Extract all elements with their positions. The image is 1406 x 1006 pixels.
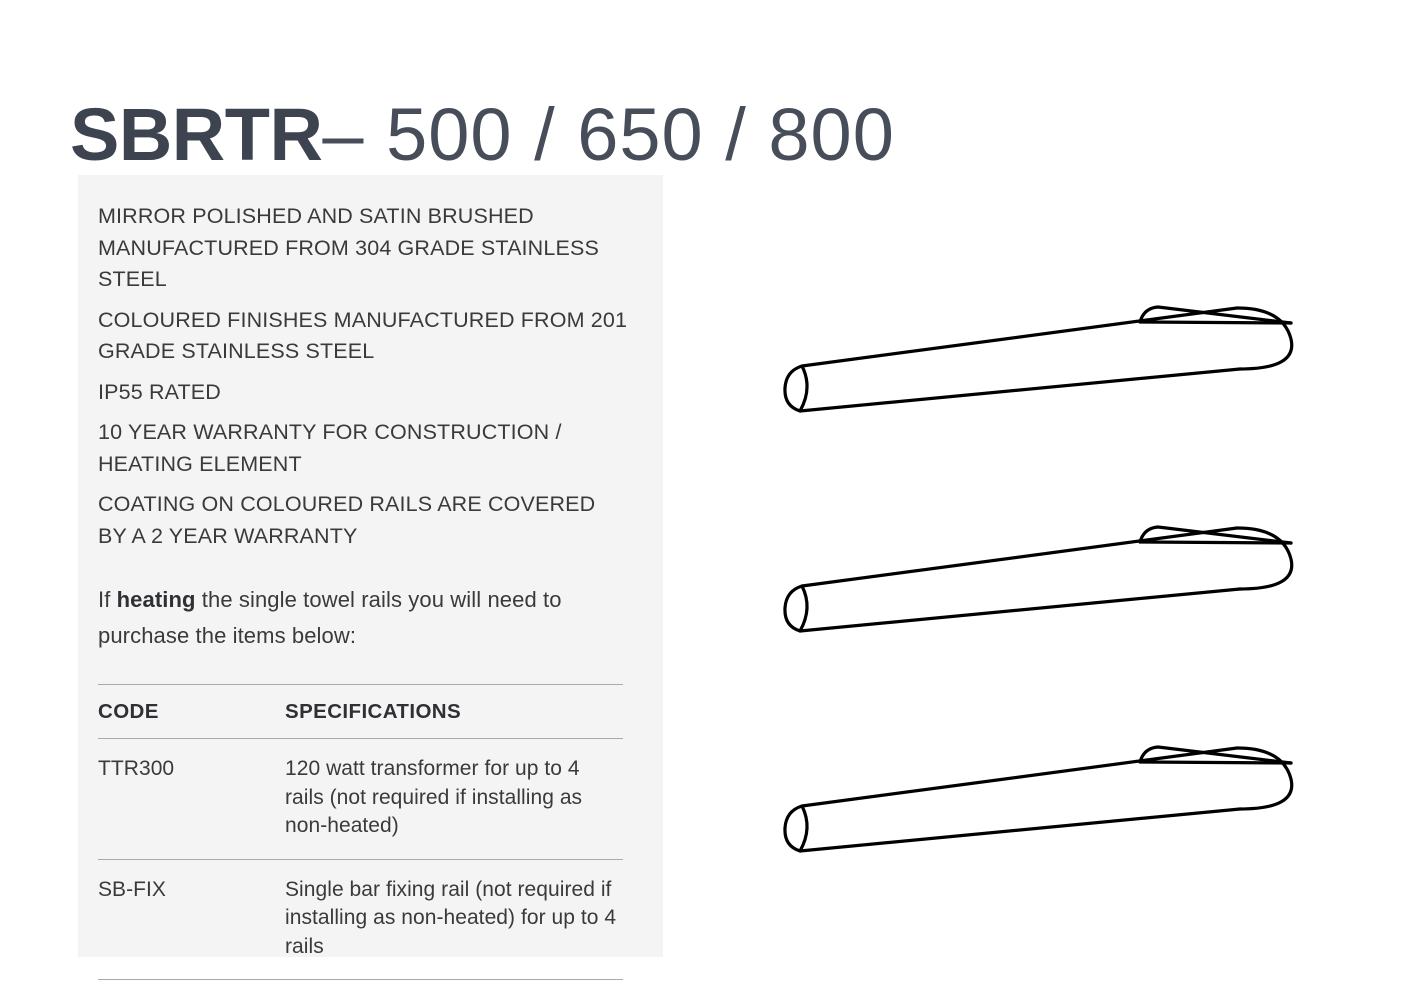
towel-rail-illustration-500 [740, 291, 1400, 431]
cell-code: TTR300 [98, 739, 285, 860]
info-panel: MIRROR POLISHED AND SATIN BRUSHED MANUFA… [78, 175, 663, 957]
spec-list-item: 10 YEAR WARRANTY FOR CONSTRUCTION / HEAT… [98, 417, 628, 480]
page-title-code: SBRTR [70, 93, 322, 176]
column-header-code: CODE [98, 685, 285, 739]
page-title: SBRTR– 500 / 650 / 800 [70, 92, 895, 178]
heating-note-before: If [98, 587, 117, 612]
cell-code: SB-FIX [98, 859, 285, 980]
spec-list-item: COLOURED FINISHES MANUFACTURED FROM 201 … [98, 305, 628, 368]
spec-list-item: MIRROR POLISHED AND SATIN BRUSHED MANUFA… [98, 201, 628, 296]
table-row: TTR300 120 watt transformer for up to 4 … [98, 739, 623, 860]
product-gallery [700, 255, 1380, 875]
heating-note-emphasis: heating [117, 587, 196, 612]
page-title-sizes: – 500 / 650 / 800 [322, 93, 894, 176]
accessories-table: CODE SPECIFICATIONS TTR300 120 watt tran… [98, 684, 623, 980]
heating-note: If heating the single towel rails you wi… [98, 582, 618, 654]
cell-specification: 120 watt transformer for up to 4 rails (… [285, 739, 623, 860]
specification-list: MIRROR POLISHED AND SATIN BRUSHED MANUFA… [98, 201, 643, 552]
spec-list-item: COATING ON COLOURED RAILS ARE COVERED BY… [98, 489, 628, 552]
table-row: SB-FIX Single bar fixing rail (not requi… [98, 859, 623, 980]
spec-list-item: IP55 RATED [98, 377, 628, 409]
towel-rail-illustration-650 [740, 511, 1400, 651]
column-header-specifications: SPECIFICATIONS [285, 685, 623, 739]
cell-specification: Single bar fixing rail (not required if … [285, 859, 623, 980]
towel-rail-illustration-800 [740, 731, 1400, 871]
table-header-row: CODE SPECIFICATIONS [98, 685, 623, 739]
